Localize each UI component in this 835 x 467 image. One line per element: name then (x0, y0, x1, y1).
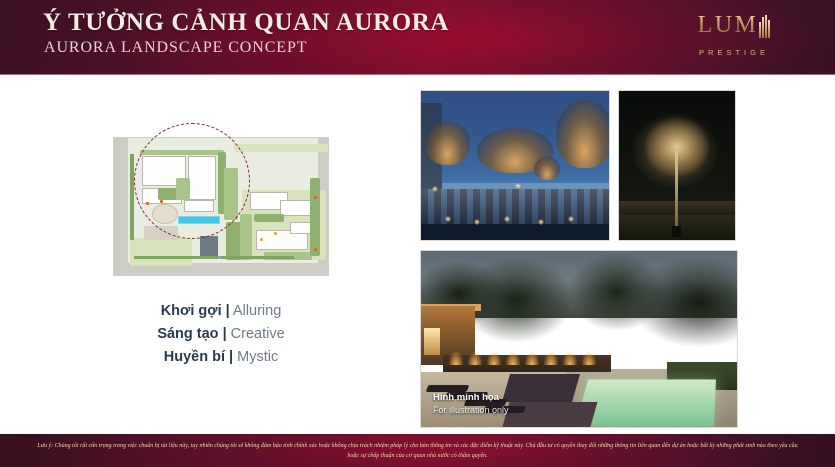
page-title: Ý TƯỞNG CẢNH QUAN AURORA (43, 9, 449, 37)
tagline-vi: Huyền bí (164, 349, 225, 365)
brand-logo-mark: LUM (669, 12, 799, 38)
site-plan-highlight-circle (134, 123, 250, 239)
site-plan (113, 137, 329, 276)
photo-uplit-tree-night (618, 90, 736, 241)
tagline-list: Khơi gợi | Alluring Sáng tạo | Creative … (113, 300, 329, 369)
tagline-en: Mystic (237, 349, 278, 365)
slide-header: Ý TƯỞNG CẢNH QUAN AURORA AURORA LANDSCAP… (0, 0, 835, 75)
tagline-en: Alluring (233, 303, 281, 319)
photo-caption-en: For illustration only (433, 404, 509, 416)
column-logo-mark-icon (759, 15, 770, 38)
slide-footer: Lưu ý: Chúng tôi rất cẩn trọng trong việ… (0, 434, 835, 467)
brand-name: LUM (698, 12, 759, 38)
photo-villa-pool-dusk: Hình minh họa For illustration only (420, 250, 738, 428)
tagline-item: Sáng tạo | Creative (113, 323, 329, 346)
tagline-separator: | (223, 326, 227, 342)
page-subtitle: AURORA LANDSCAPE CONCEPT (44, 39, 307, 57)
photo-caption: Hình minh họa For illustration only (433, 392, 509, 416)
brand-tagline: PRESTIGE (669, 48, 799, 57)
tagline-separator: | (229, 349, 233, 365)
footer-disclaimer: Lưu ý: Chúng tôi rất cẩn trọng trong việ… (18, 441, 818, 461)
photo-caption-vi: Hình minh họa (433, 392, 509, 404)
photo-infinity-pool-twilight (420, 90, 610, 241)
brand-logo: LUM PRESTIGE (669, 12, 799, 57)
tagline-vi: Sáng tạo (157, 326, 218, 342)
tagline-separator: | (226, 303, 230, 319)
tagline-item: Huyền bí | Mystic (113, 346, 329, 369)
tagline-item: Khơi gợi | Alluring (113, 300, 329, 323)
tagline-en: Creative (231, 326, 285, 342)
tagline-vi: Khơi gợi (161, 303, 222, 319)
